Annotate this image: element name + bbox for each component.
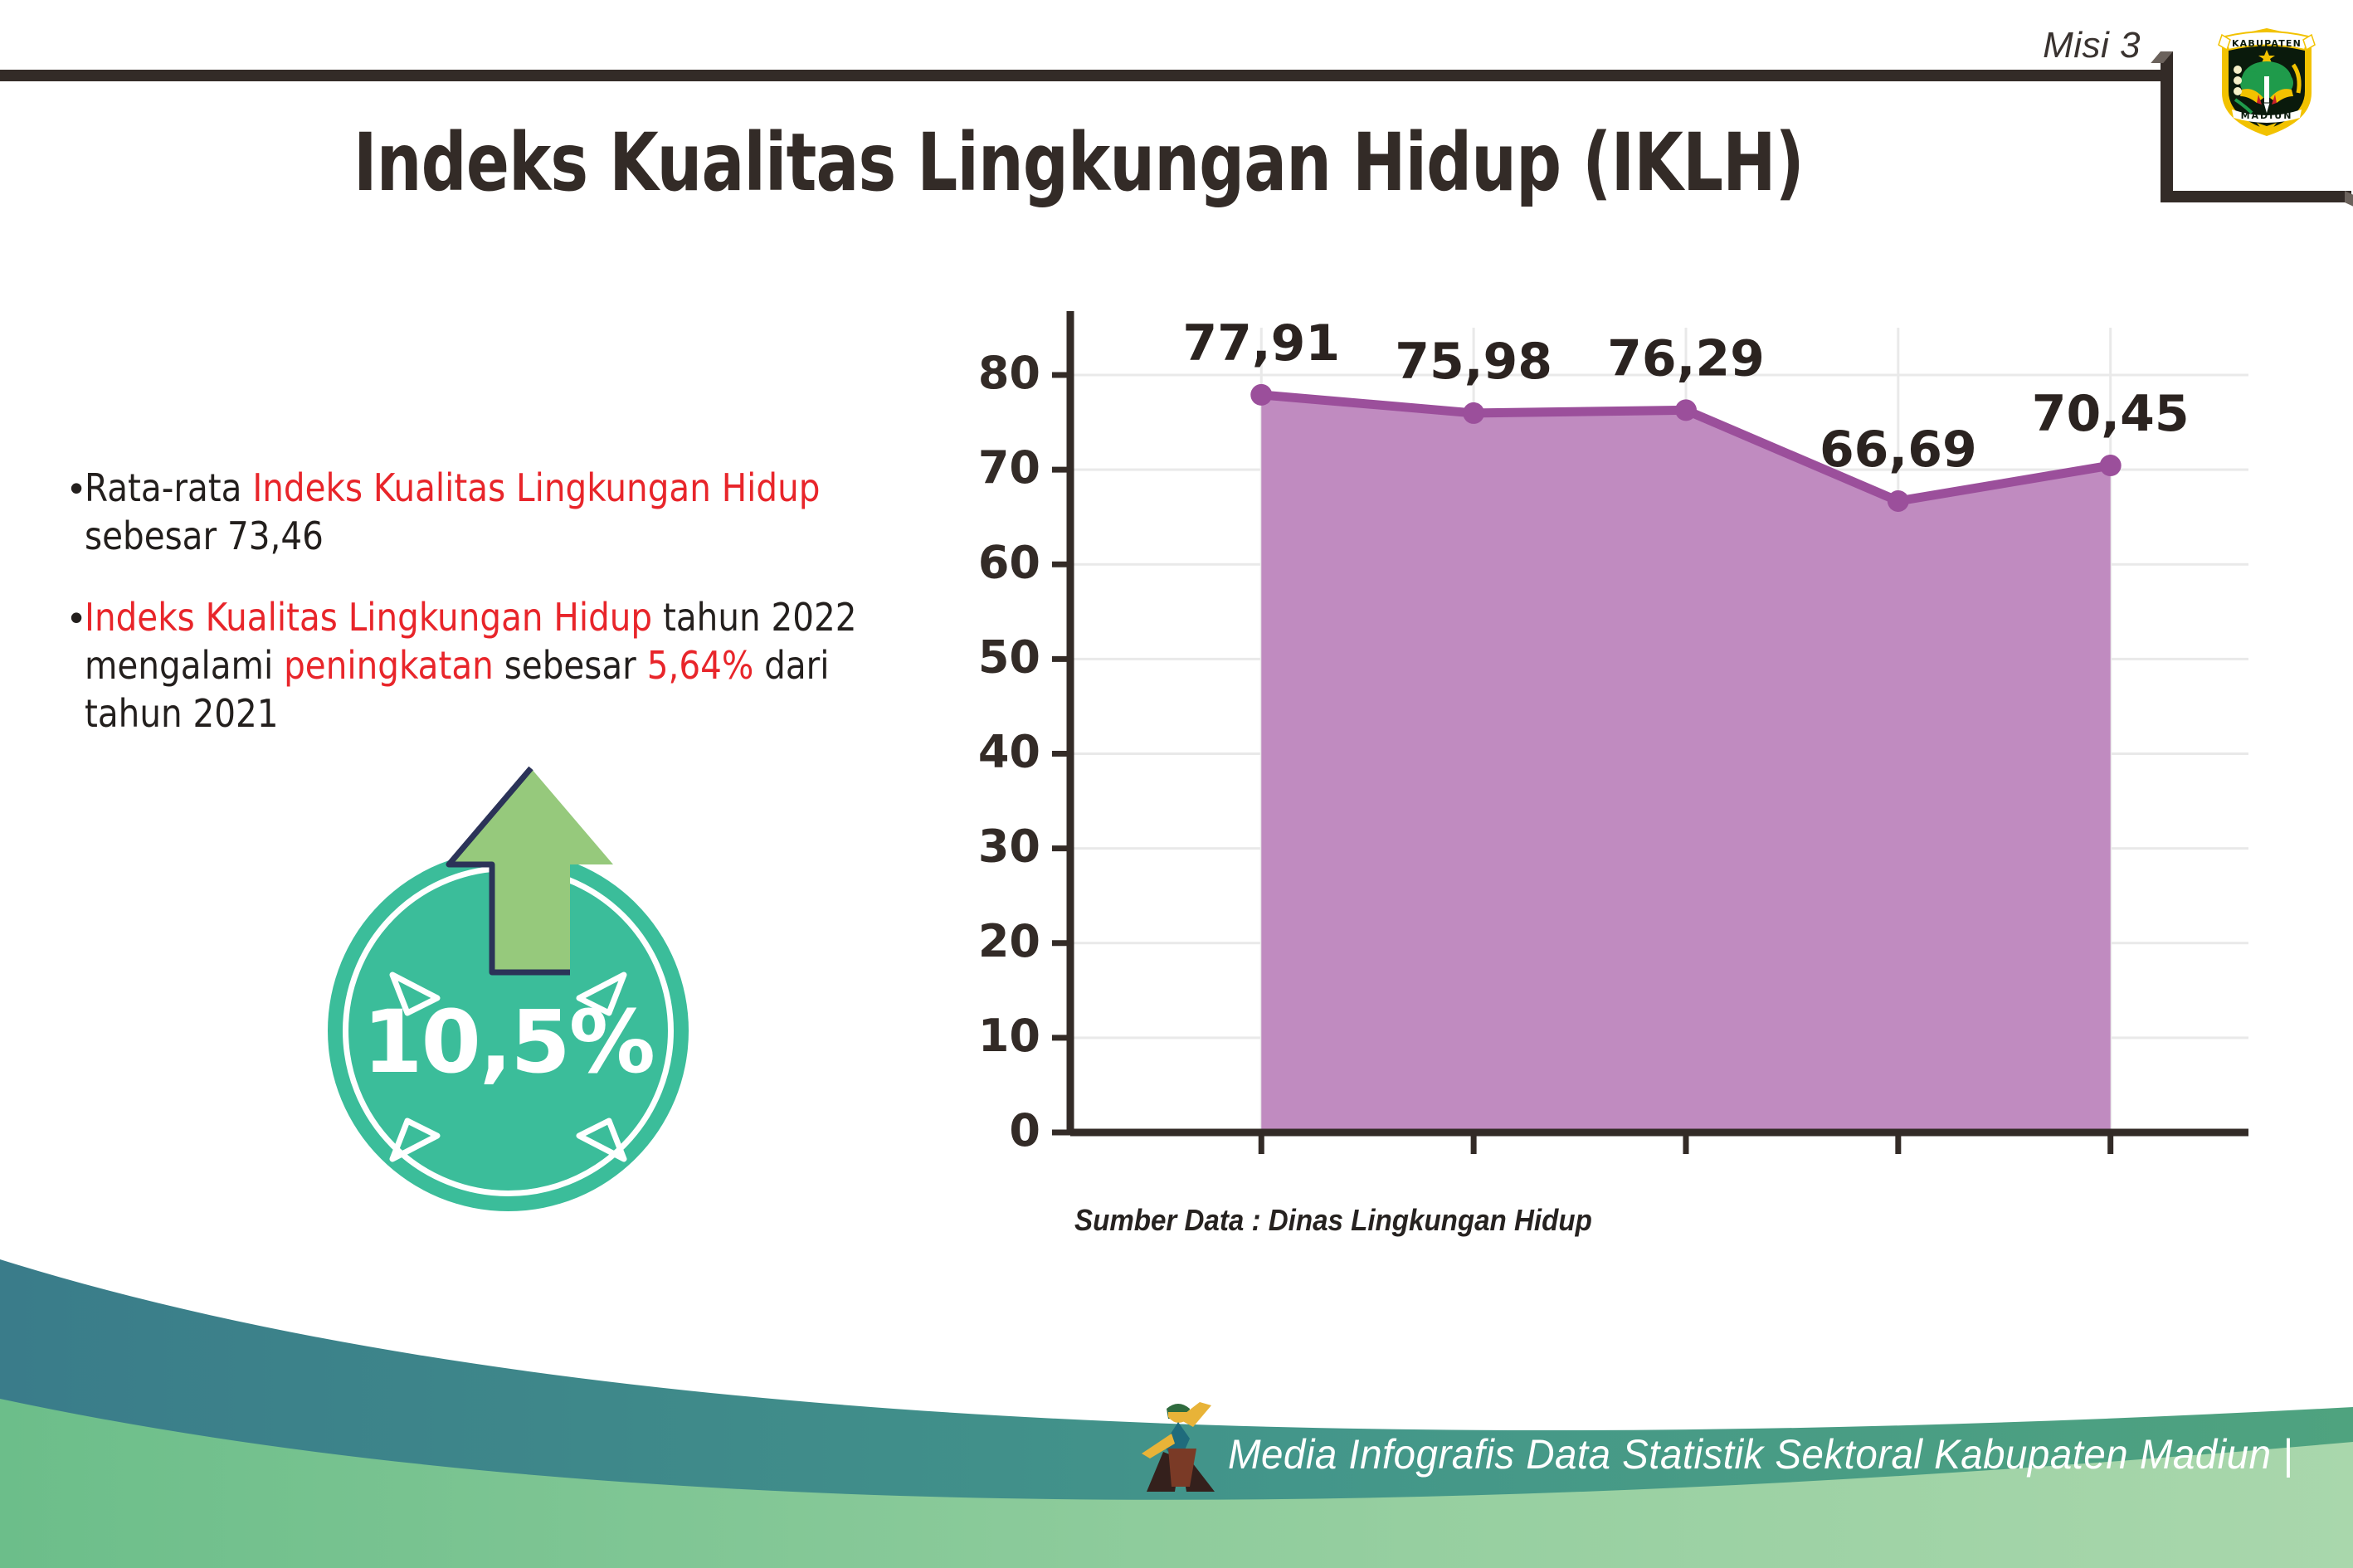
kabupaten-madiun-logo-icon: KABUPATEN MADIUN: [2210, 17, 2323, 141]
svg-text:75,98: 75,98: [1395, 333, 1552, 391]
svg-text:2019: 2019: [1397, 1166, 1550, 1174]
y-axis-tick-labels: 01020304050607080: [978, 347, 1040, 1157]
growth-badge: 10,5%: [328, 763, 734, 1211]
svg-text:50: 50: [978, 631, 1040, 683]
highlight-text: Indeks Kualitas Lingkungan Hidup: [252, 465, 820, 510]
footer-wave-banner: Media Infografis Data Statistik Sektoral…: [0, 1220, 2353, 1568]
highlight-text: peningkatan: [284, 643, 494, 688]
iklh-area-chart: 01020304050607080 20182019202020212022 7…: [954, 295, 2282, 1174]
svg-text:66,69: 66,69: [1820, 421, 1977, 479]
svg-text:30: 30: [978, 821, 1040, 873]
highlight-text: 5,64%: [647, 643, 754, 688]
bracket-vertical-bar: [2161, 51, 2173, 202]
svg-text:76,29: 76,29: [1607, 329, 1765, 387]
svg-text:2018: 2018: [1185, 1166, 1337, 1174]
svg-text:60: 60: [978, 536, 1040, 588]
bracket-horizontal-bevel: [2345, 191, 2353, 212]
bullet-marker: •: [70, 465, 83, 513]
upward-arrow-icon: [444, 763, 618, 979]
footer-text: Media Infografis Data Statistik Sektoral…: [1228, 1430, 2293, 1478]
svg-text:2021: 2021: [1822, 1166, 1975, 1174]
bullet-marker: •: [70, 594, 83, 642]
highlight-text: Indeks Kualitas Lingkungan Hidup: [85, 595, 652, 640]
svg-text:MADIUN: MADIUN: [2241, 110, 2293, 121]
header-divider-rule: [0, 70, 2167, 81]
dancer-figure-icon: [1135, 1394, 1226, 1502]
svg-text:40: 40: [978, 726, 1040, 778]
x-axis-tick-labels: 20182019202020212022: [1185, 1166, 2186, 1174]
badge-value: 10,5%: [328, 991, 689, 1093]
area-fill: [1261, 395, 2110, 1132]
list-item: • Rata-rata Indeks Kualitas Lingkungan H…: [70, 465, 999, 561]
page-title: Indeks Kualitas Lingkungan Hidup (IKLH): [216, 116, 1941, 209]
misi-label: Misi 3: [2043, 25, 2141, 66]
bullet-text-1: Indeks Kualitas Lingkungan Hidup tahun 2…: [85, 594, 889, 738]
svg-text:80: 80: [978, 347, 1040, 399]
svg-text:70: 70: [978, 441, 1040, 494]
svg-text:77,91: 77,91: [1182, 314, 1340, 373]
plain-text: sebesar 73,46: [85, 514, 324, 558]
svg-text:2020: 2020: [1610, 1166, 1762, 1174]
bullet-text-0: Rata-rata Indeks Kualitas Lingkungan Hid…: [85, 465, 889, 561]
svg-text:70,45: 70,45: [2032, 385, 2190, 443]
svg-text:KABUPATEN: KABUPATEN: [2232, 38, 2302, 49]
infographic-page: Misi 3 KABUPATEN MADIUN Indeks Kualitas …: [0, 0, 2353, 1568]
bracket-horizontal-bar: [2161, 191, 2351, 202]
bullet-list: • Rata-rata Indeks Kualitas Lingkungan H…: [70, 465, 999, 772]
chart-canvas: 01020304050607080 20182019202020212022 7…: [954, 295, 2282, 1174]
svg-text:0: 0: [1009, 1104, 1040, 1157]
list-item: • Indeks Kualitas Lingkungan Hidup tahun…: [70, 594, 999, 738]
plain-text: Rata-rata: [85, 465, 252, 510]
plain-text: sebesar: [494, 643, 647, 688]
svg-text:20: 20: [978, 915, 1040, 967]
svg-text:10: 10: [978, 1010, 1040, 1062]
svg-text:2022: 2022: [2034, 1166, 2187, 1174]
